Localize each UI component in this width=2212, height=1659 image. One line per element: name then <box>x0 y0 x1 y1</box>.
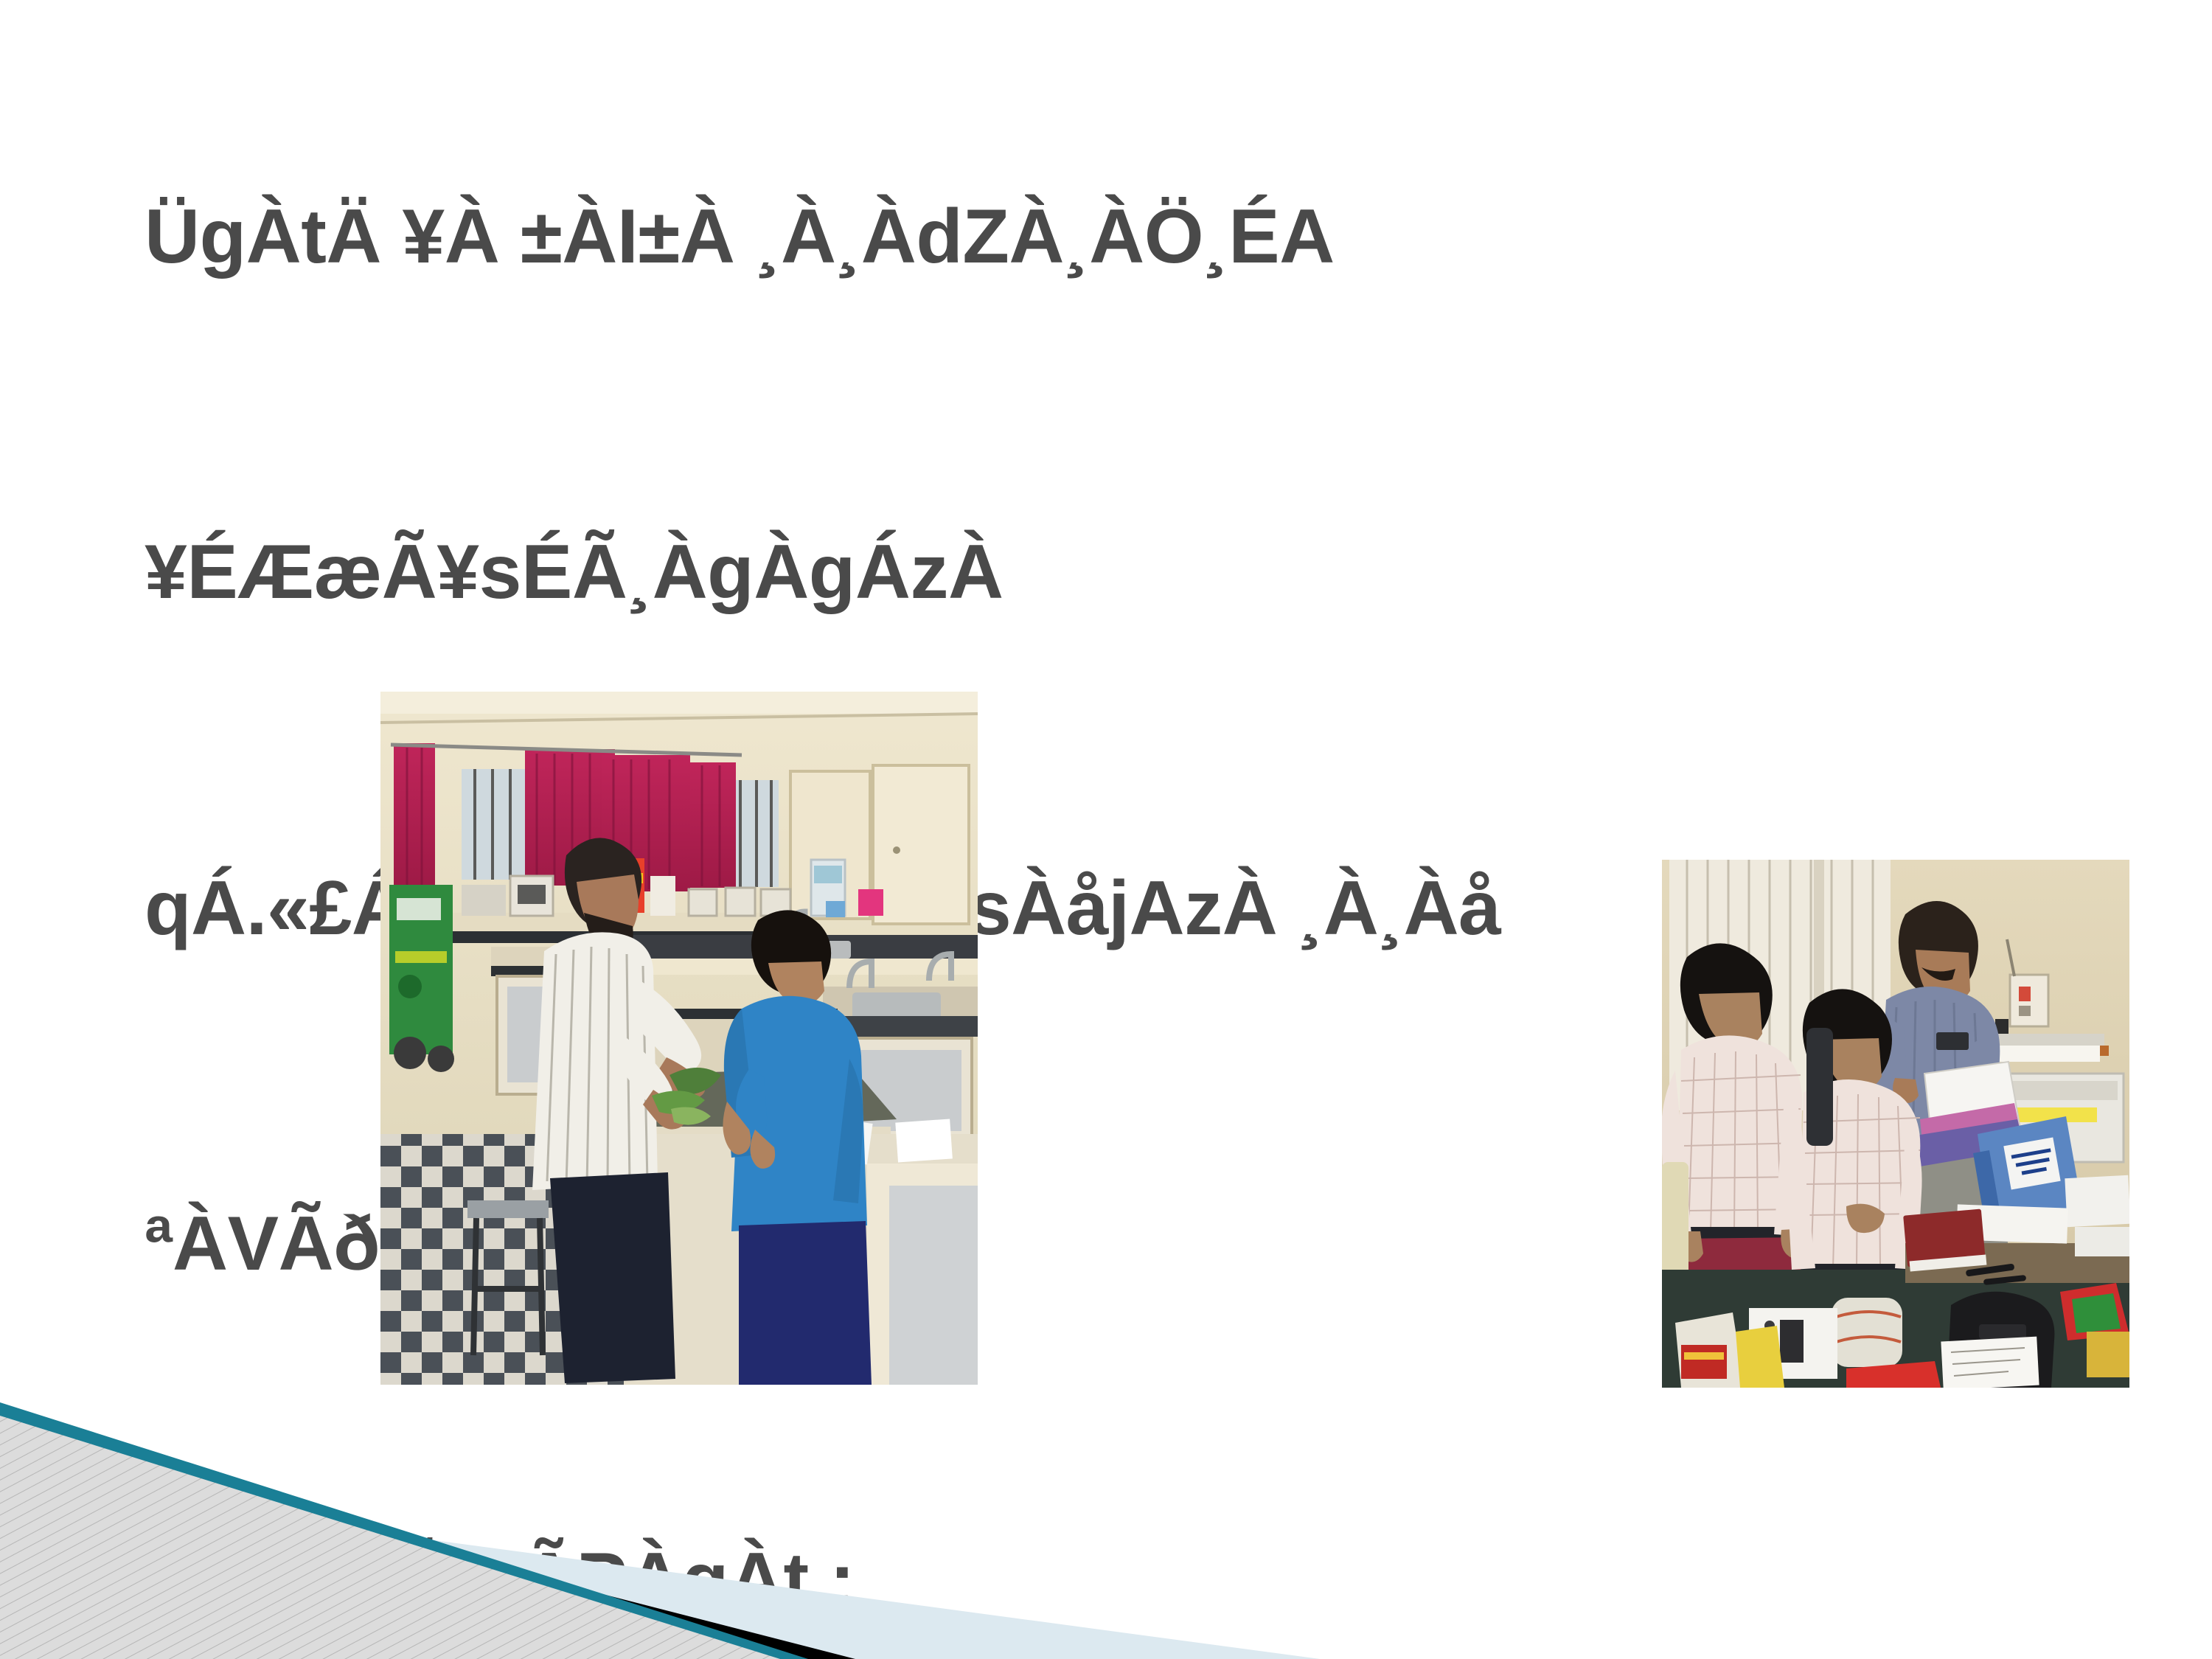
title-line-2: ¥ÉÆæÃ¥sÉÃ¸ÀgÀgÁzÀ <box>145 517 2091 629</box>
slide-canvas: ÜgÀtÄ ¥À ±ÀI±À ¸À¸ÀdZÀ¸ÀÖ¸ÉA ¥ÉÆæÃ¥sÉÃ¸À… <box>0 0 2212 1659</box>
science-lab-photo <box>380 692 978 1385</box>
staff-room-illustration <box>1662 860 2129 1388</box>
staff-room-photo <box>1662 860 2129 1388</box>
title-line-5: PÉÆæÃrüÃPÀgÀt : <box>145 1525 2091 1637</box>
title-line-1: ÜgÀtÄ ¥À ±ÀI±À ¸À¸ÀdZÀ¸ÀÖ¸ÉA <box>145 181 2091 293</box>
science-lab-illustration <box>380 692 978 1385</box>
